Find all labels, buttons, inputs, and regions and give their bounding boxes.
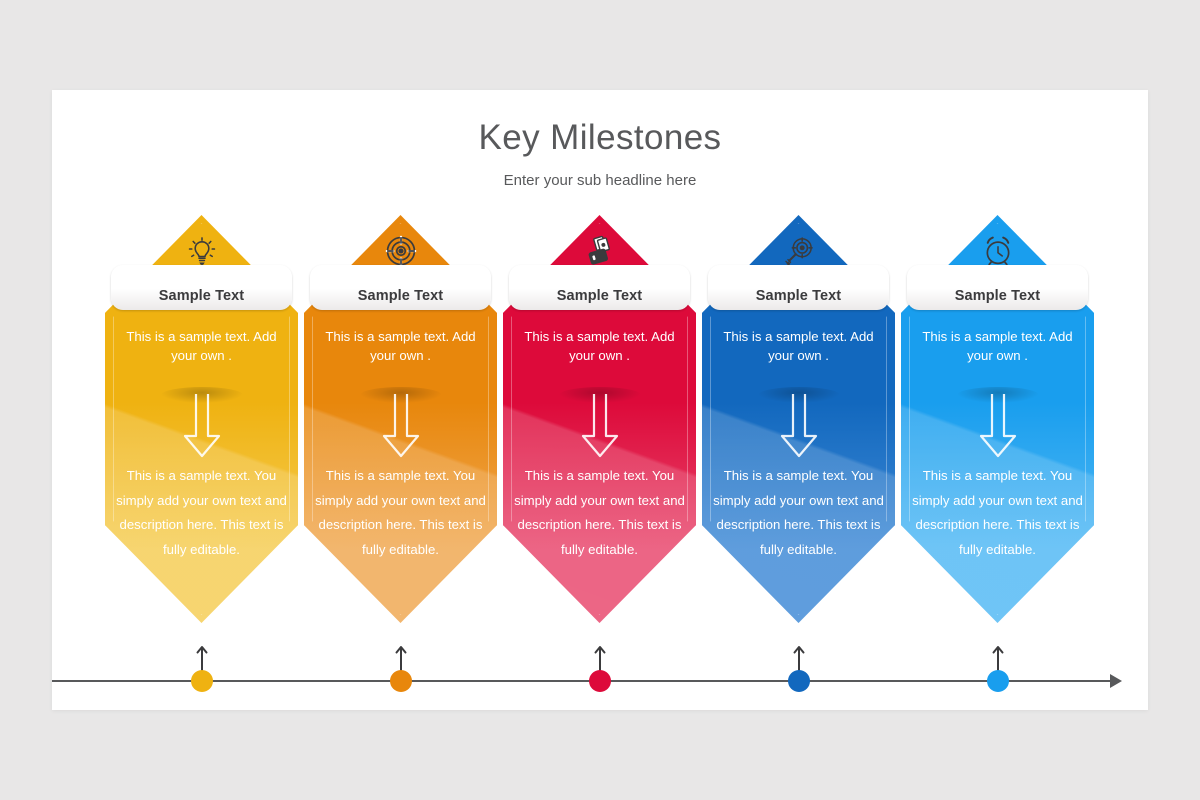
timeline-dot[interactable] [390,670,412,692]
card-body-text: This is a sample text. You simply add yo… [312,464,489,562]
lightbulb-icon [182,233,222,269]
card-title-label: Sample Text [557,288,642,304]
page-title: Key Milestones [52,118,1148,158]
page-subtitle: Enter your sub headline here [52,172,1148,189]
arrow-down-icon [772,392,826,462]
card-lead-text: This is a sample text. Add your own . [712,327,885,365]
card-title-badge[interactable]: Sample Text [907,265,1088,310]
timeline-node[interactable] [381,656,421,706]
card-lead-text: This is a sample text. Add your own . [513,327,686,365]
card-title-badge[interactable]: Sample Text [111,265,292,310]
milestone-card[interactable]: Sample Text This is a sample text. Add y… [304,215,497,623]
milestone-card-row: Sample Text This is a sample text. Add y… [105,215,1095,625]
arrow-right-icon [1110,674,1122,688]
timeline-dot[interactable] [788,670,810,692]
card-body-text: This is a sample text. You simply add yo… [511,464,688,562]
card-lead-text: This is a sample text. Add your own . [911,327,1084,365]
arrow-down-icon [573,392,627,462]
slide-canvas: Key Milestones Enter your sub headline h… [52,90,1148,710]
timeline-dot[interactable] [191,670,213,692]
arrow-down-icon [971,392,1025,462]
timeline-node[interactable] [580,656,620,706]
magnifier-target-icon [779,233,819,269]
arrow-down-icon [175,392,229,462]
timeline-node[interactable] [779,656,819,706]
wallet-money-icon [580,233,620,269]
card-title-label: Sample Text [358,288,443,304]
slide-stage: Key Milestones Enter your sub headline h… [0,0,1200,800]
timeline-dot[interactable] [589,670,611,692]
timeline-dot[interactable] [987,670,1009,692]
card-title-badge[interactable]: Sample Text [708,265,889,310]
card-lead-text: This is a sample text. Add your own . [115,327,288,365]
card-title-label: Sample Text [159,288,244,304]
timeline [52,656,1148,710]
milestone-card[interactable]: Sample Text This is a sample text. Add y… [702,215,895,623]
card-title-badge[interactable]: Sample Text [509,265,690,310]
card-body-text: This is a sample text. You simply add yo… [909,464,1086,562]
milestone-card[interactable]: Sample Text This is a sample text. Add y… [105,215,298,623]
alarm-clock-icon [978,233,1018,269]
card-title-label: Sample Text [955,288,1040,304]
arrow-down-icon [374,392,428,462]
card-title-badge[interactable]: Sample Text [310,265,491,310]
milestone-card[interactable]: Sample Text This is a sample text. Add y… [901,215,1094,623]
timeline-node[interactable] [182,656,222,706]
card-title-label: Sample Text [756,288,841,304]
card-body-text: This is a sample text. You simply add yo… [113,464,290,562]
target-icon [381,233,421,269]
card-body-text: This is a sample text. You simply add yo… [710,464,887,562]
timeline-node[interactable] [978,656,1018,706]
card-lead-text: This is a sample text. Add your own . [314,327,487,365]
milestone-card[interactable]: Sample Text This is a sample text. Add y… [503,215,696,623]
